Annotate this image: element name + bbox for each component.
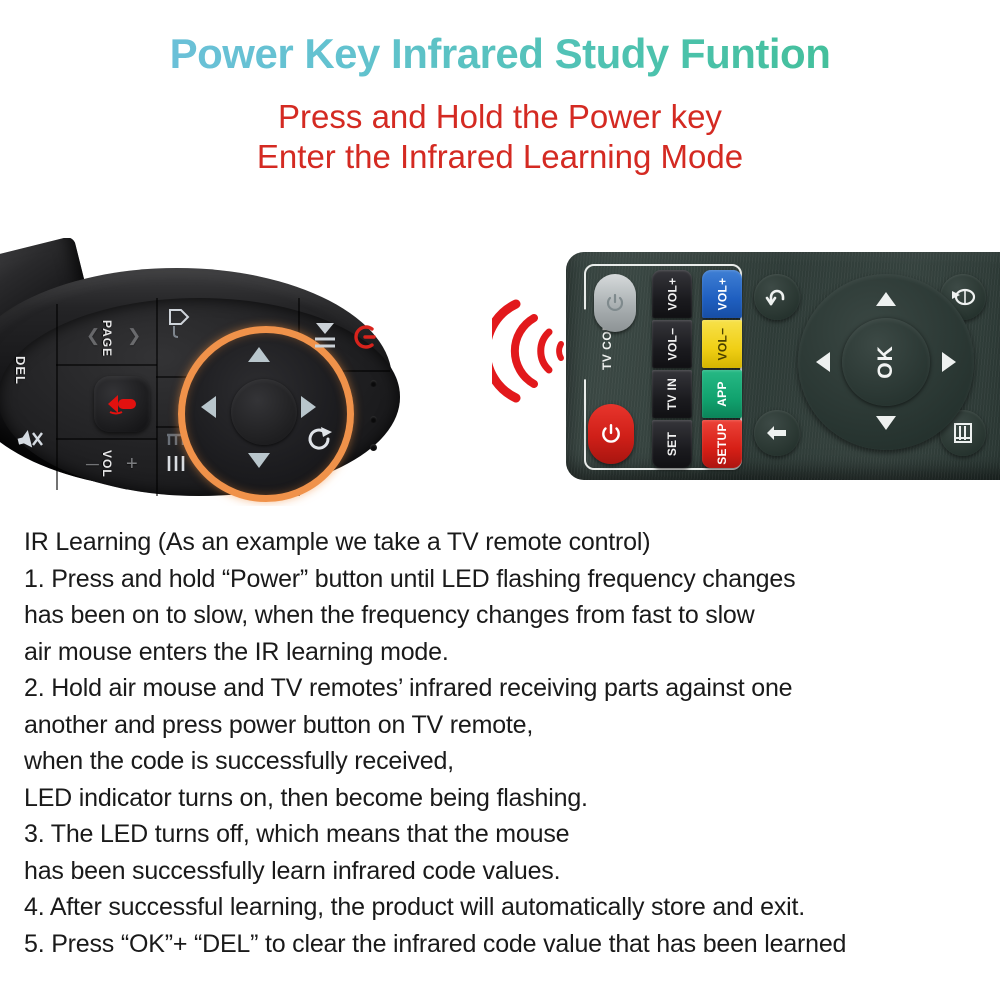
instruction-line: another and press power button on TV rem… xyxy=(24,707,984,744)
seam-divider xyxy=(56,304,58,490)
instructions-heading: IR Learning (As an example we take a TV … xyxy=(24,524,984,561)
instruction-line: 4. After successful learning, the produc… xyxy=(24,889,984,926)
seam-divider xyxy=(56,438,157,440)
dpad-down-icon[interactable] xyxy=(248,453,270,468)
tv-vol-up-label: VOL+ xyxy=(665,278,679,311)
instruction-line: 1. Press and hold “Power” button until L… xyxy=(24,561,984,598)
dpad-left-icon[interactable] xyxy=(816,352,830,372)
ok-button-label: OK xyxy=(874,345,898,379)
app-button[interactable]: APP xyxy=(702,370,742,418)
subtitle-line-2: Enter the Infrared Learning Mode xyxy=(0,138,1000,176)
tv-vol-up-button[interactable]: VOL+ xyxy=(652,270,692,318)
volume-plus-icon[interactable]: + xyxy=(126,453,138,476)
vol-up-label: VOL+ xyxy=(715,278,729,311)
led-indicator xyxy=(370,444,377,451)
air-mouse-remote: DEL PAGE ❮ ❯ xyxy=(0,250,460,490)
instruction-line: air mouse enters the IR learning mode. xyxy=(24,634,984,671)
product-infographic: Power Key Infrared Study Funtion Press a… xyxy=(0,0,1000,1000)
dpad-down-icon[interactable] xyxy=(876,416,896,430)
microphone-icon xyxy=(105,393,139,415)
instruction-line: 3. The LED turns off, which means that t… xyxy=(24,816,984,853)
led-indicator xyxy=(370,380,377,387)
product-photo: DEL PAGE ❮ ❯ xyxy=(0,238,1000,506)
power-button[interactable] xyxy=(588,404,634,464)
tv-vol-down-label: VOL− xyxy=(665,328,679,361)
power-icon xyxy=(600,423,622,445)
setup-label: SETUP xyxy=(715,423,729,465)
home-button[interactable] xyxy=(754,410,800,456)
tv-in-label: TV IN xyxy=(665,378,679,410)
vol-down-label: VOL− xyxy=(715,328,729,361)
tv-in-button[interactable]: TV IN xyxy=(652,370,692,418)
air-mouse-icon[interactable] xyxy=(304,424,338,461)
power-icon[interactable] xyxy=(350,322,380,357)
tv-remote: TV CONTROL VOL+ xyxy=(566,252,1000,480)
instruction-line: 2. Hold air mouse and TV remotes’ infrar… xyxy=(24,670,984,707)
instruction-line: when the code is successfully received, xyxy=(24,743,984,780)
menu-icon xyxy=(952,421,974,445)
color-key-column: VOL+ VOL− APP SETUP xyxy=(702,270,742,470)
mic-button[interactable] xyxy=(94,376,150,432)
app-label: APP xyxy=(715,381,729,407)
dpad-up-icon[interactable] xyxy=(876,292,896,306)
home-arrow-icon xyxy=(764,422,790,444)
dpad-left-icon[interactable] xyxy=(201,396,216,418)
page-title: Power Key Infrared Study Funtion xyxy=(0,30,1000,78)
dpad-up-icon[interactable] xyxy=(248,347,270,362)
del-button-label[interactable]: DEL xyxy=(13,356,28,385)
volume-minus-icon[interactable]: ─ xyxy=(86,454,99,475)
list-collapse-icon[interactable] xyxy=(310,320,340,359)
instruction-line: has been on to slow, when the frequency … xyxy=(24,597,984,634)
header: Power Key Infrared Study Funtion Press a… xyxy=(0,0,1000,200)
dpad-center-button[interactable] xyxy=(231,379,297,445)
setup-button[interactable]: SETUP xyxy=(702,420,742,468)
led-indicator xyxy=(370,416,377,423)
tv-remote-dpad[interactable]: OK xyxy=(798,274,974,450)
vol-up-button[interactable]: VOL+ xyxy=(702,270,742,318)
infrared-wave xyxy=(492,296,572,406)
vol-down-button[interactable]: VOL− xyxy=(702,320,742,368)
remote-body: DEL PAGE ❮ ❯ xyxy=(0,268,392,490)
remote-faceplate: DEL PAGE ❮ ❯ xyxy=(0,298,400,496)
mute-icon[interactable] xyxy=(14,426,44,457)
seam-divider xyxy=(156,298,158,496)
page-right-icon[interactable]: ❯ xyxy=(127,326,141,346)
power-icon xyxy=(605,293,625,313)
tv-set-button[interactable]: SET xyxy=(652,420,692,468)
dpad-right-icon[interactable] xyxy=(301,396,316,418)
page-button-label[interactable]: PAGE xyxy=(100,320,114,357)
tv-power-button[interactable] xyxy=(594,274,636,332)
page-left-icon[interactable]: ❮ xyxy=(86,326,100,346)
seam-divider xyxy=(56,364,157,366)
instruction-line: has been successfully learn infrared cod… xyxy=(24,853,984,890)
back-arrow-icon[interactable] xyxy=(166,306,192,345)
tv-control-key-column: VOL+ VOL− TV IN SET xyxy=(652,270,692,470)
instructions-block: IR Learning (As an example we take a TV … xyxy=(24,524,984,962)
instruction-line: 5. Press “OK”+ “DEL” to clear the infrar… xyxy=(24,926,984,963)
volume-button-label[interactable]: VOL xyxy=(100,450,114,478)
back-button[interactable] xyxy=(754,274,800,320)
ok-button[interactable]: OK xyxy=(842,318,930,406)
instruction-line: LED indicator turns on, then become bein… xyxy=(24,780,984,817)
dpad-right-icon[interactable] xyxy=(942,352,956,372)
tv-set-label: SET xyxy=(665,432,679,456)
tv-vol-down-button[interactable]: VOL− xyxy=(652,320,692,368)
subtitle-line-1: Press and Hold the Power key xyxy=(0,98,1000,136)
back-arrow-icon xyxy=(765,285,789,309)
